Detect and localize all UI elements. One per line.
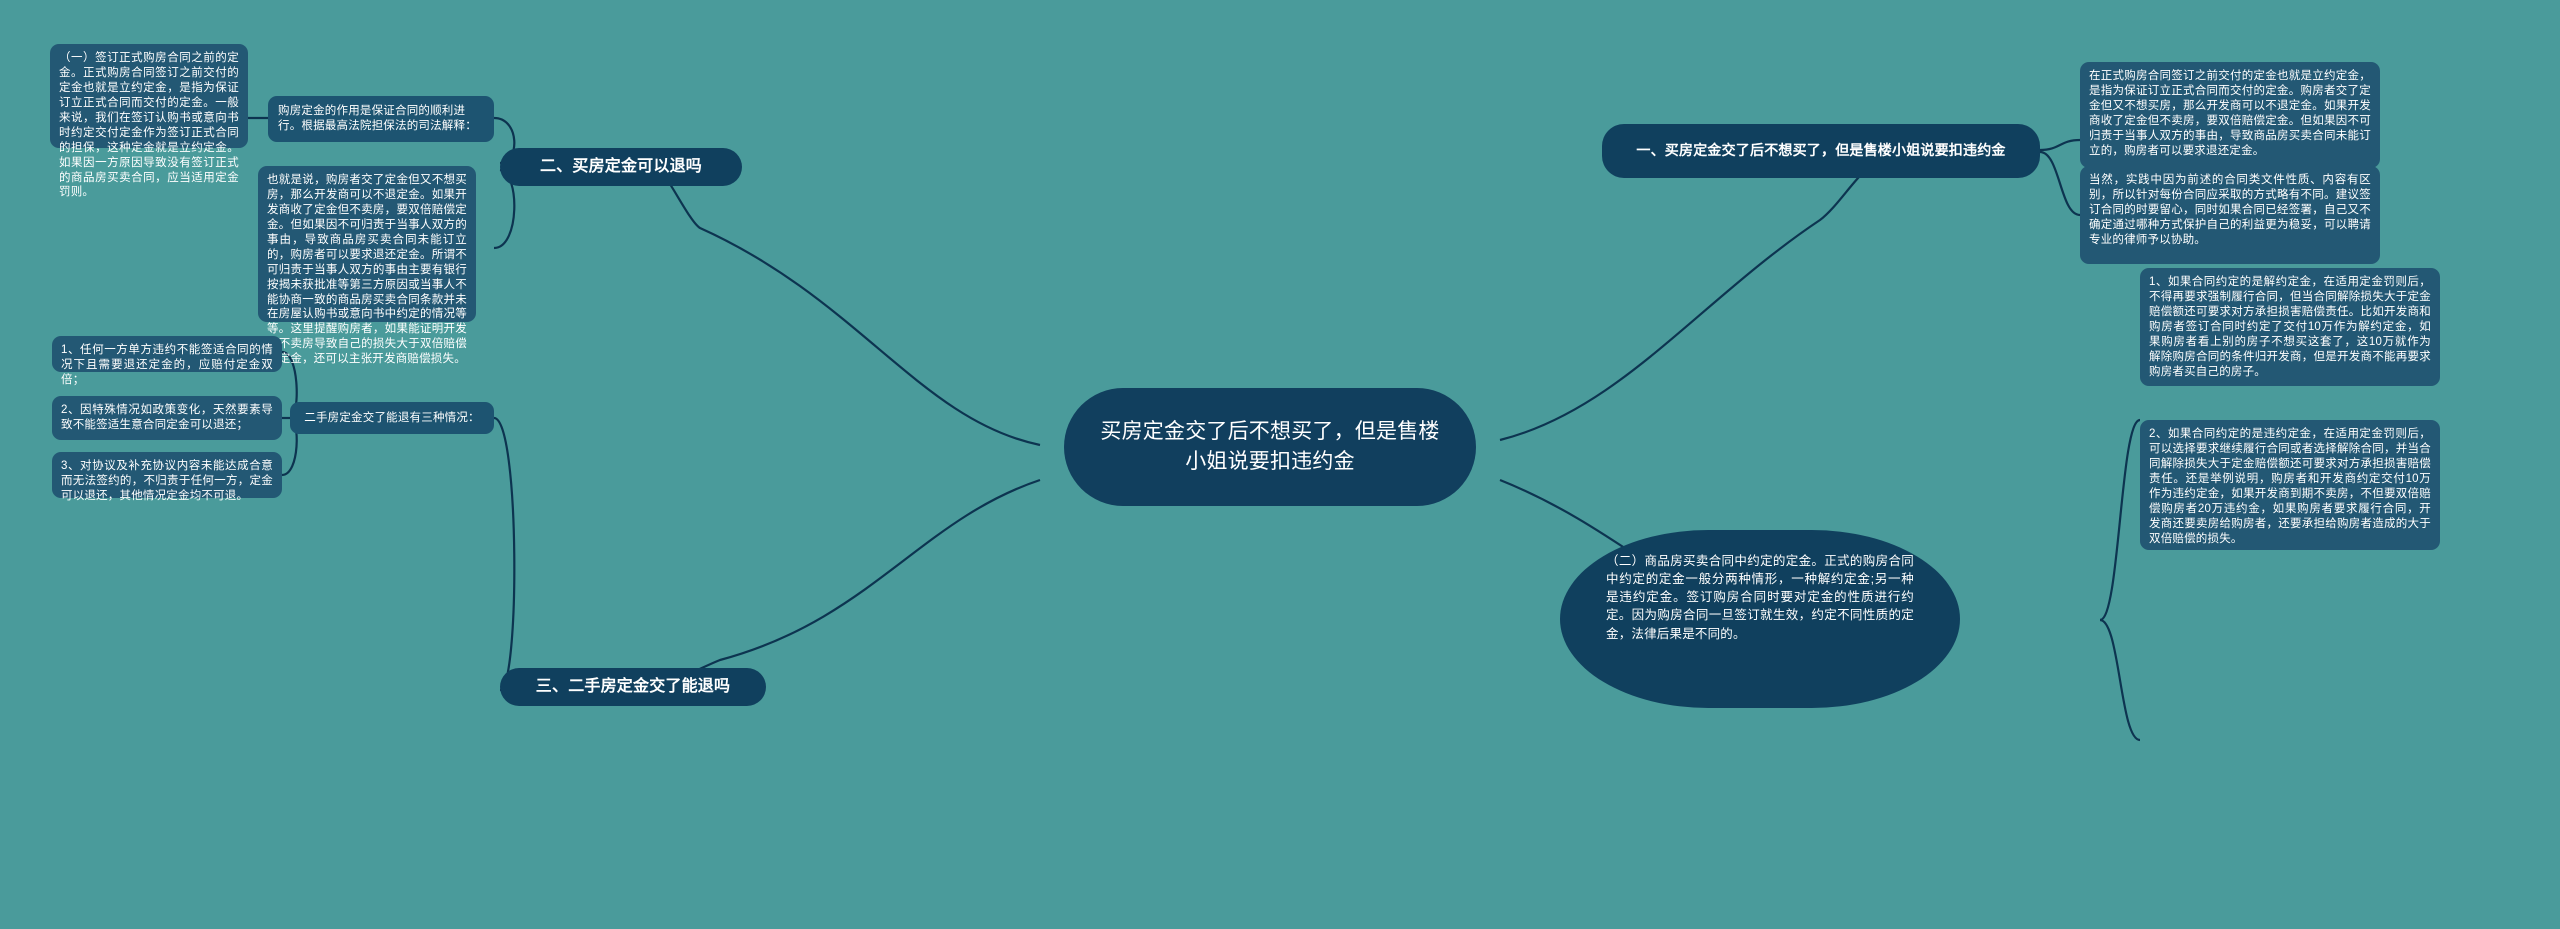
leaf-left-bottom-1[interactable]: 1、任何一方单方违约不能签适合同的情况下且需要退还定金的，应赔付定金双倍； [52, 336, 282, 372]
leaf-left-bottom-2[interactable]: 2、因特殊情况如政策变化，天然要素导致不能签适生意合同定金可以退还； [52, 396, 282, 440]
sub-node-secondhand-cases[interactable]: 二手房定金交了能退有三种情况： [290, 402, 494, 434]
branch-node-1[interactable]: 一、买房定金交了后不想买了，但是售楼小姐说要扣违约金 [1602, 124, 2040, 178]
branch-node-3[interactable]: 三、二手房定金交了能退吗 [500, 668, 766, 706]
leaf-right-top-1[interactable]: 在正式购房合同签订之前交付的定金也就是立约定金，是指为保证订立正式合同而交付的定… [2080, 62, 2380, 168]
leaf-left-top-1[interactable]: （一）签订正式购房合同之前的定金。正式购房合同签订之前交付的定金也就是立约定金，… [50, 44, 248, 148]
leaf-left-mid-1[interactable]: 也就是说，购房者交了定金但又不想买房，那么开发商可以不退定金。如果开发商收了定金… [258, 166, 476, 322]
center-node[interactable]: 买房定金交了后不想买了，但是售楼小姐说要扣违约金 [1064, 388, 1476, 506]
leaf-right-top-2[interactable]: 当然，实践中因为前述的合同类文件性质、内容有区别，所以针对每份合同应采取的方式略… [2080, 166, 2380, 264]
branch-node-2[interactable]: 二、买房定金可以退吗 [500, 148, 742, 186]
sub-node-deposit-role[interactable]: 购房定金的作用是保证合同的顺利进行。根据最高法院担保法的司法解释： [268, 96, 494, 142]
leaf-left-bottom-3[interactable]: 3、对协议及补充协议内容未能达成合意而无法签约的，不归责于任何一方，定金可以退还… [52, 452, 282, 498]
ellipse-node-contract-deposit[interactable]: （二）商品房买卖合同中约定的定金。正式的购房合同中约定的定金一般分两种情形，一种… [1560, 530, 1960, 708]
mindmap-canvas: 买房定金交了后不想买了，但是售楼小姐说要扣违约金 一、买房定金交了后不想买了，但… [0, 0, 2560, 929]
leaf-right-bottom-1[interactable]: 1、如果合同约定的是解约定金，在适用定金罚则后，不得再要求强制履行合同，但当合同… [2140, 268, 2440, 386]
leaf-right-bottom-2[interactable]: 2、如果合同约定的是违约定金，在适用定金罚则后，可以选择要求继续履行合同或者选择… [2140, 420, 2440, 550]
